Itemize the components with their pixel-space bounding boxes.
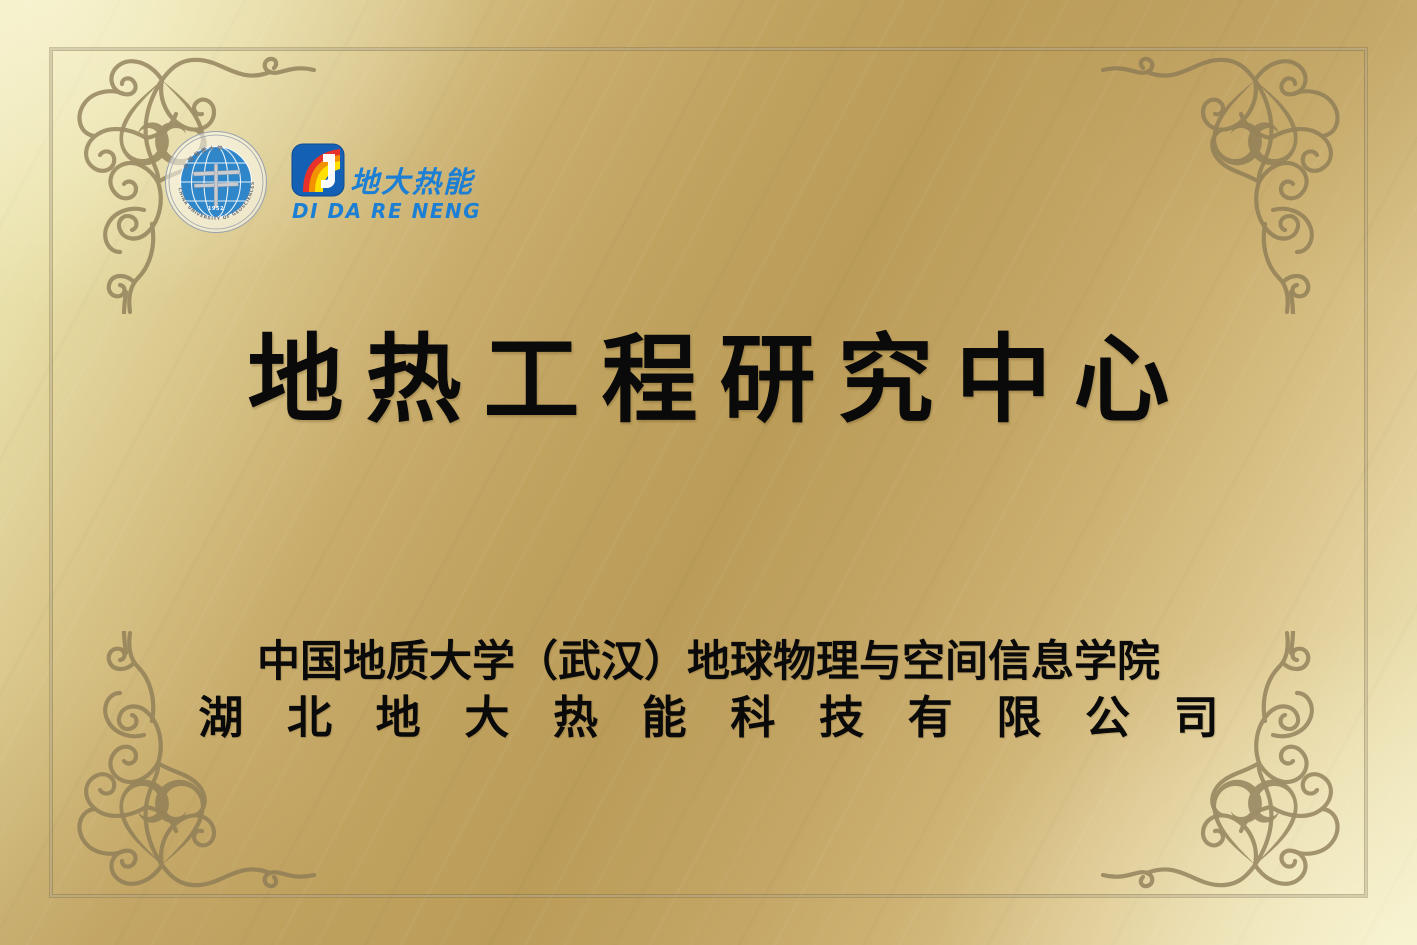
corner-ornament-top-right (1099, 14, 1399, 314)
company-logo-en-text: DI DA RE NENG (292, 199, 481, 223)
logo-row: 中国地质大学 CHINA UNIVERSITY OF GEOSCIENCES 1… (164, 130, 518, 234)
plaque: 中国地质大学 CHINA UNIVERSITY OF GEOSCIENCES 1… (0, 0, 1417, 945)
company-logo-cn-text: 地大热能 (350, 166, 518, 198)
svg-text:地大热能: 地大热能 (350, 166, 476, 198)
footer-block: 中国地质大学（武汉）地球物理与空间信息学院 湖 北 地 大 热 能 科 技 有 … (0, 636, 1417, 749)
didareneng-mark-icon (290, 142, 346, 198)
svg-text:1952: 1952 (208, 206, 224, 212)
footer-line-company: 湖 北 地 大 热 能 科 技 有 限 公 司 (0, 688, 1417, 748)
university-seal-icon: 中国地质大学 CHINA UNIVERSITY OF GEOSCIENCES 1… (164, 130, 268, 234)
footer-line-institute: 中国地质大学（武汉）地球物理与空间信息学院 (0, 636, 1417, 688)
page-title: 地热工程研究中心 (0, 330, 1417, 431)
company-logo: 地大热能 DI DA RE NENG (290, 142, 518, 223)
